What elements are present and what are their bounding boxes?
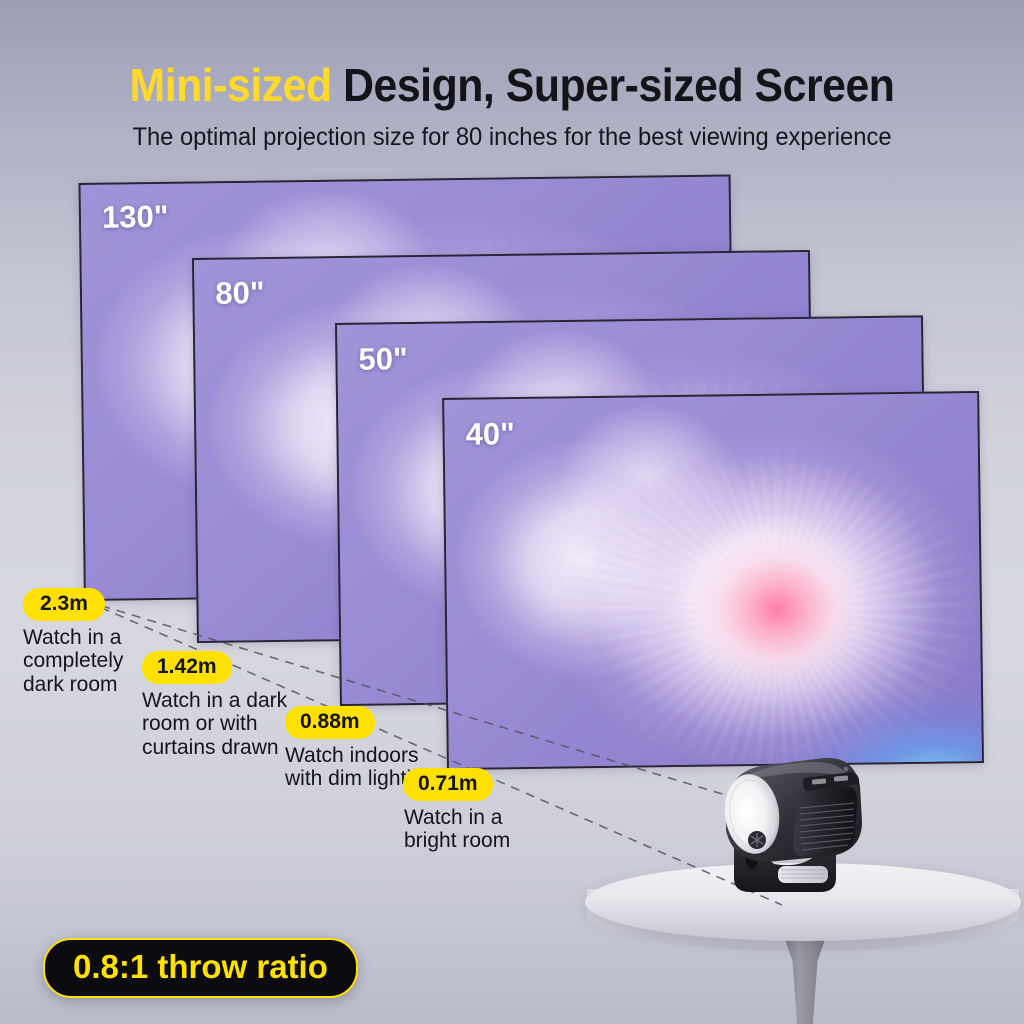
distance-badge-1-42m: 1.42m	[142, 651, 232, 684]
distance-callout-1-42m: 1.42m Watch in a dark room or with curta…	[142, 651, 287, 760]
throw-ratio-badge: 0.8:1 throw ratio	[43, 938, 358, 998]
throw-ratio-label: 0.8:1 throw ratio	[73, 948, 328, 985]
projection-screen-40: 40"	[442, 391, 984, 770]
screen-size-label-80: 80"	[215, 275, 265, 312]
page-subtitle: The optimal projection size for 80 inche…	[26, 123, 999, 152]
flower-ruffle-texture	[444, 393, 982, 768]
screen-size-label-130: 130"	[102, 199, 169, 236]
speaker-grille	[778, 866, 828, 883]
projector-device	[712, 752, 872, 900]
distance-callout-2-3m: 2.3m Watch in a completely dark room	[23, 588, 123, 697]
page-title: Mini-sized Design, Super-sized Screen	[36, 58, 988, 112]
headline-accent: Mini-sized	[130, 59, 332, 111]
distance-badge-0-88m: 0.88m	[285, 706, 375, 739]
distance-badge-0-71m: 0.71m	[403, 768, 493, 801]
distance-callout-0-71m: 0.71m Watch in a bright room	[403, 768, 510, 853]
screen-size-label-40: 40"	[465, 416, 515, 453]
screen-size-label-50: 50"	[358, 341, 408, 378]
distance-caption-0-71m: Watch in a bright room	[404, 806, 510, 854]
distance-caption-2-3m: Watch in a completely dark room	[23, 626, 123, 698]
headline-block: Mini-sized Design, Super-sized Screen Th…	[0, 58, 1024, 152]
distance-caption-1-42m: Watch in a dark room or with curtains dr…	[142, 689, 287, 761]
headline-rest: Design, Super-sized Screen	[332, 59, 895, 111]
product-infographic: Mini-sized Design, Super-sized Screen Th…	[0, 0, 1024, 1024]
status-led	[844, 767, 849, 772]
distance-badge-2-3m: 2.3m	[23, 588, 105, 621]
